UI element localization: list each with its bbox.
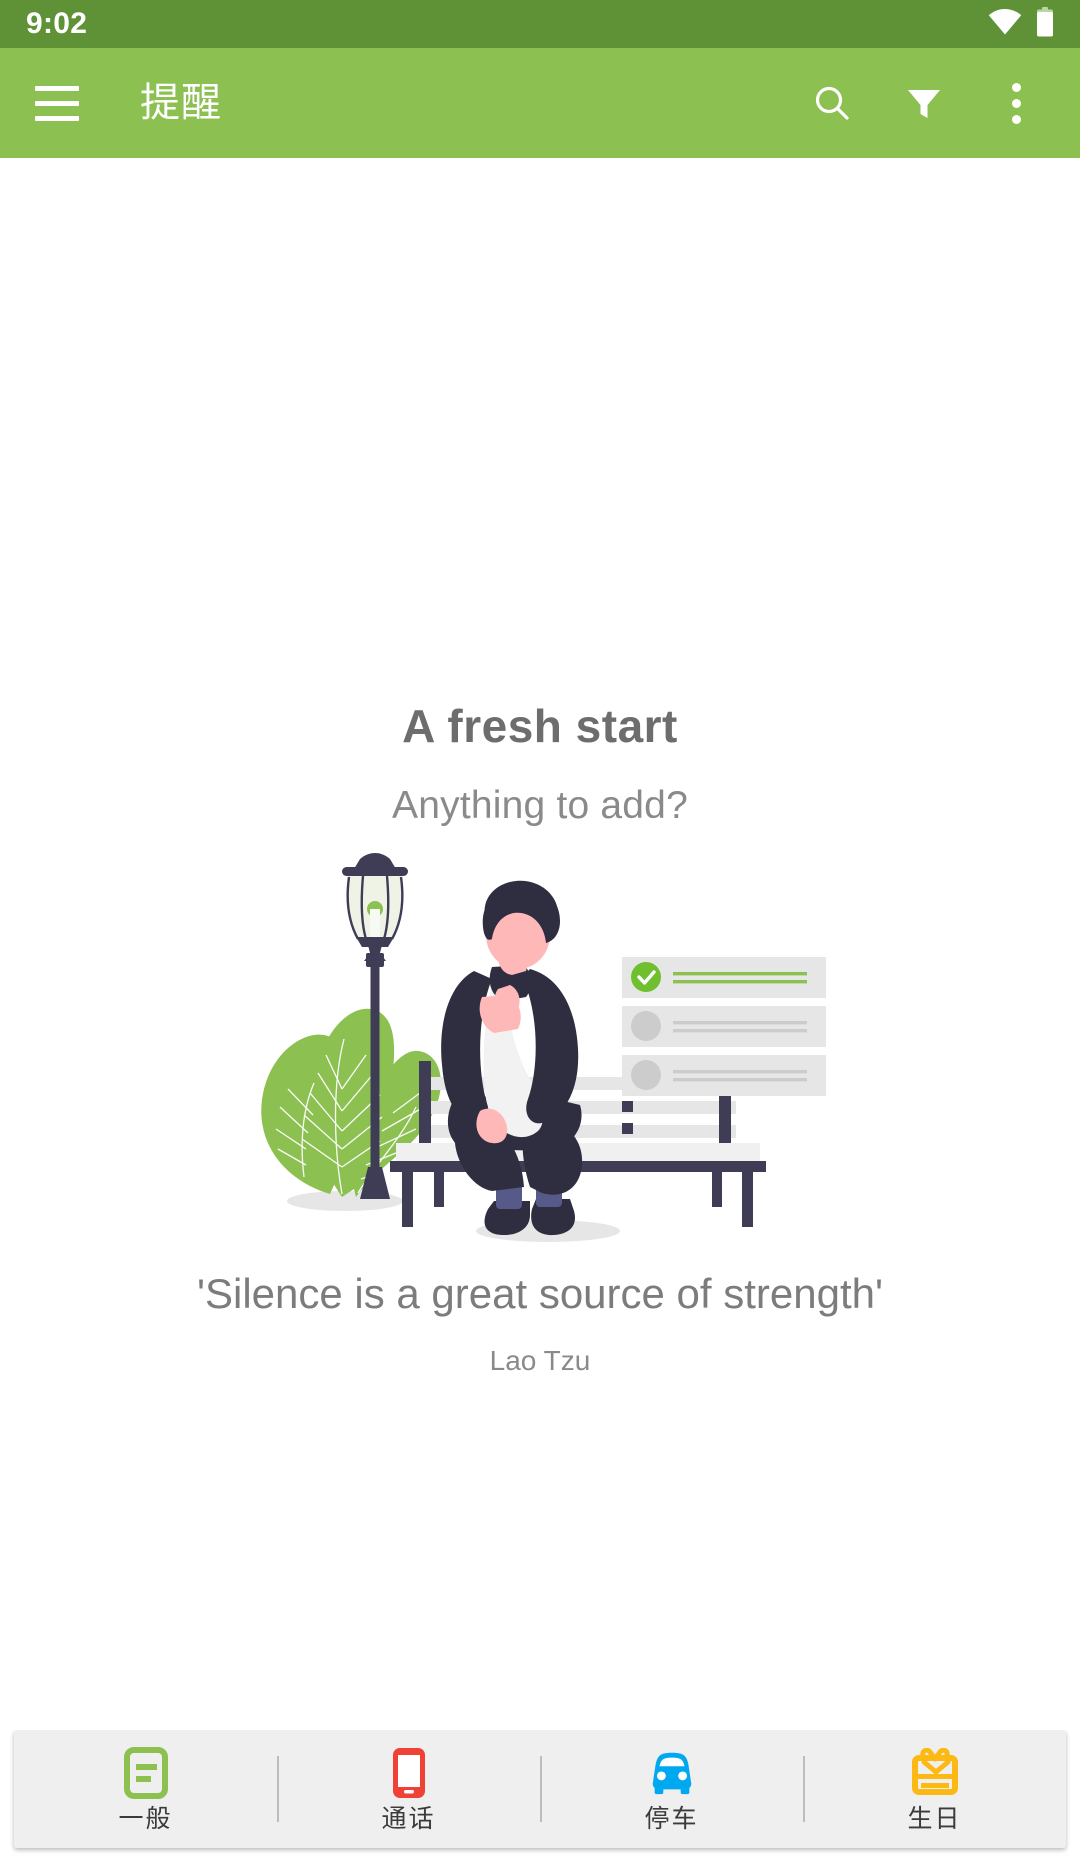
overflow-dot-3	[1012, 115, 1021, 124]
status-bar-clock: 9:02	[26, 9, 87, 39]
quote-text: 'Silence is a great source of strength'	[190, 1271, 890, 1317]
overflow-menu-icon[interactable]	[976, 63, 1056, 143]
note-icon	[120, 1747, 172, 1799]
hamburger-bar-1	[35, 86, 79, 91]
search-icon[interactable]	[792, 63, 872, 143]
seated-person	[441, 881, 582, 1235]
app-root: 9:02 提醒	[0, 0, 1080, 1864]
bottom-label-birthday: 生日	[907, 1807, 961, 1832]
empty-state-subhead: Anything to add?	[392, 786, 688, 825]
gift-icon	[909, 1747, 961, 1799]
overflow-dot-2	[1012, 99, 1021, 108]
page-title: 提醒	[140, 83, 222, 123]
bottom-item-parking[interactable]: 停车	[540, 1730, 803, 1848]
bottom-label-parking: 停车	[644, 1807, 698, 1832]
bottom-bar-wrapper: 一般 通话	[0, 1730, 1080, 1864]
bottom-item-birthday[interactable]: 生日	[803, 1730, 1066, 1848]
bottom-item-general[interactable]: 一般	[14, 1730, 277, 1848]
bottom-label-general: 一般	[118, 1807, 172, 1832]
hamburger-menu-icon[interactable]	[26, 72, 88, 134]
battery-icon	[1036, 7, 1054, 42]
empty-state-headline: A fresh start	[402, 703, 678, 749]
bottom-label-call: 通话	[381, 1807, 435, 1832]
hamburger-bar-3	[35, 116, 79, 121]
quote-author: Lao Tzu	[490, 1347, 591, 1375]
bottom-navigation-bar: 一般 通话	[14, 1730, 1066, 1848]
status-bar: 9:02	[0, 0, 1080, 48]
empty-state-illustration	[230, 849, 850, 1249]
checklist-card	[622, 957, 826, 1096]
empty-state-content: A fresh start Anything to add?	[0, 158, 1080, 1730]
status-bar-icons	[988, 7, 1054, 42]
overflow-dot-1	[1012, 83, 1021, 92]
app-bar-actions	[792, 63, 1056, 143]
bottom-item-call[interactable]: 通话	[277, 1730, 540, 1848]
hamburger-bar-2	[35, 101, 79, 106]
filter-icon[interactable]	[884, 63, 964, 143]
wifi-icon	[988, 9, 1022, 40]
app-bar: 提醒	[0, 48, 1080, 158]
phone-icon	[383, 1747, 435, 1799]
car-icon	[646, 1747, 698, 1799]
